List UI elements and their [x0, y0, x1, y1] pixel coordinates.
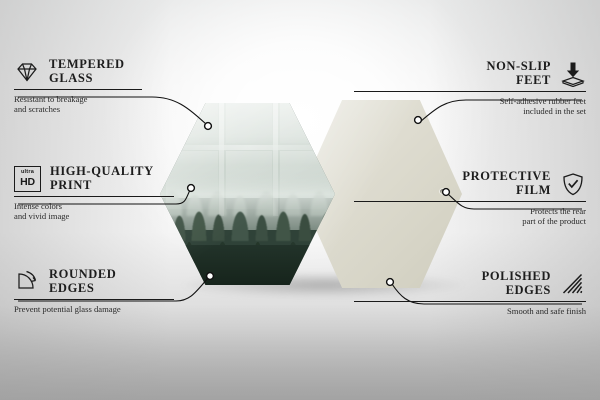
feature-divider	[14, 89, 142, 90]
press-down-pad-icon	[560, 61, 586, 87]
feature-header: NON-SLIP FEET	[354, 60, 586, 87]
feature-description: Smooth and safe finish	[354, 306, 586, 316]
feature-title: ROUNDED EDGES	[49, 268, 116, 295]
feature-divider	[14, 196, 174, 197]
feature-tempered-glass: TEMPERED GLASS Resistant to breakage and…	[14, 58, 246, 115]
feature-title: PROTECTIVE FILM	[462, 170, 551, 197]
feature-divider	[14, 299, 174, 300]
connector-node-tempered-glass	[205, 123, 212, 130]
feature-description: Resistant to breakage and scratches	[14, 94, 246, 115]
connector-node-non-slip-feet	[415, 117, 422, 124]
feature-protective-film: PROTECTIVE FILM Protects the rear part o…	[354, 170, 586, 227]
feature-title: NON-SLIP FEET	[486, 60, 551, 87]
feature-divider	[354, 201, 586, 202]
ultra-hd-icon-top-label: ultra	[21, 170, 34, 176]
rounded-corner-icon	[14, 269, 40, 295]
feature-high-quality-print: ultra HD HIGH-QUALITY PRINT Intense colo…	[14, 165, 246, 222]
feature-header: PROTECTIVE FILM	[354, 170, 586, 197]
feature-description: Protects the rear part of the product	[354, 206, 586, 227]
feature-title: POLISHED EDGES	[482, 270, 551, 297]
feature-title: HIGH-QUALITY PRINT	[50, 165, 154, 192]
hatch-lines-icon	[560, 271, 586, 297]
feature-divider	[354, 301, 586, 302]
feature-divider	[354, 91, 586, 92]
infographic-canvas: TEMPERED GLASS Resistant to breakage and…	[0, 0, 600, 400]
feature-description: Intense colors and vivid image	[14, 201, 246, 222]
feature-polished-edges: POLISHED EDGES Smooth and safe finish	[354, 270, 586, 316]
feature-header: ultra HD HIGH-QUALITY PRINT	[14, 165, 246, 192]
feature-description: Self-adhesive rubber feet included in th…	[354, 96, 586, 117]
diamond-icon	[14, 59, 40, 85]
feature-header: POLISHED EDGES	[354, 270, 586, 297]
feature-description: Prevent potential glass damage	[14, 304, 246, 314]
shield-check-icon	[560, 171, 586, 197]
ultra-hd-icon-bottom-label: HD	[20, 177, 35, 188]
feature-header: TEMPERED GLASS	[14, 58, 246, 85]
feature-header: ROUNDED EDGES	[14, 268, 246, 295]
feature-title: TEMPERED GLASS	[49, 58, 125, 85]
feature-non-slip-feet: NON-SLIP FEET Self-adhesive rubber feet …	[354, 60, 586, 117]
feature-rounded-edges: ROUNDED EDGES Prevent potential glass da…	[14, 268, 246, 314]
ultra-hd-icon: ultra HD	[14, 166, 41, 192]
